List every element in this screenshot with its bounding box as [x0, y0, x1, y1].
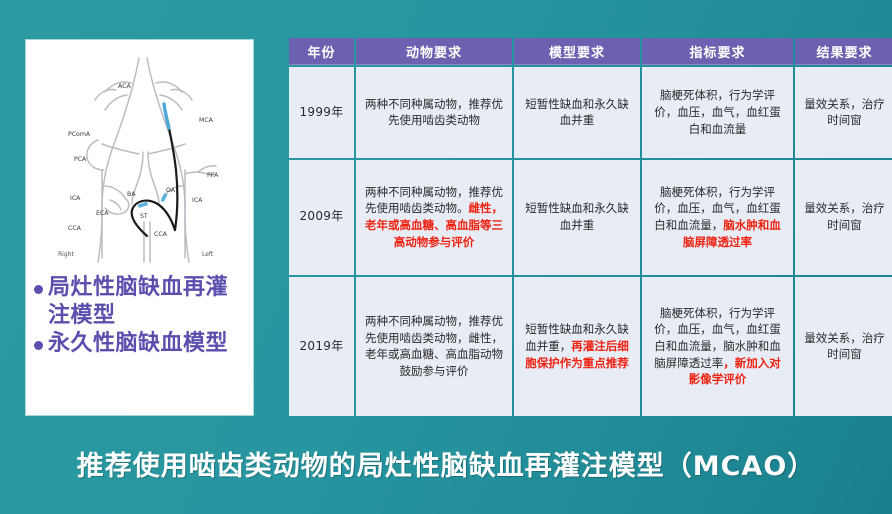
cell-model: 短暂性缺血和永久缺血并重，再灌注后细胞保护作为重点推荐 [514, 277, 640, 416]
diagram-label: CCA [154, 231, 168, 238]
list-item: 局灶性脑缺血再灌注模型 [32, 274, 249, 330]
column-header-result: 结果要求 [795, 38, 892, 65]
text-run: 脑梗死体积，行为学评价，血压，血气，血红蛋白和血流量 [654, 88, 781, 135]
diagram-label: ST [140, 213, 148, 220]
cell-result: 量效关系，治疗时间窗 [795, 67, 892, 158]
table-row: 2019年 两种不同种属动物，推荐优先使用啮齿类动物，雌性，老年或高血糖、高血脂… [289, 277, 892, 416]
bullet-dot-icon [34, 285, 43, 294]
requirements-table-wrap: 年份 动物要求 模型要求 指标要求 结果要求 1999年 两种不同种属动物，推荐… [287, 36, 884, 418]
cell-result: 量效关系，治疗时间窗 [795, 160, 892, 275]
table-row: 2009年 两种不同种属动物，推荐优先使用啮齿类动物。雌性，老年或高血糖、高血脂… [289, 160, 892, 275]
diagram-label: PPA [207, 172, 219, 179]
diagram-label: ICA [70, 195, 81, 202]
diagram-label: OA [166, 187, 176, 194]
suture-tip-highlight [164, 104, 169, 128]
slide-canvas: ACA MCA PComA PCA PPA BA OA ICA ICA ECA … [0, 0, 892, 514]
cell-animal: 两种不同种属动物，推荐优先使用啮齿类动物。雌性，老年或高血糖、高血脂等三高动物参… [356, 160, 512, 275]
diagram-label-group: ACA MCA PComA PCA PPA BA OA ICA ICA ECA … [58, 83, 219, 258]
cell-index: 脑梗死体积，行为学评价，血压，血气，血红蛋白和血流量，脑水肿和血脑屏障透过率，新… [642, 277, 793, 416]
column-header-animal: 动物要求 [356, 38, 512, 65]
cell-model: 短暂性缺血和永久缺血并重 [514, 67, 640, 158]
requirements-table: 年份 动物要求 模型要求 指标要求 结果要求 1999年 两种不同种属动物，推荐… [287, 36, 892, 418]
text-run: 量效关系，治疗时间窗 [804, 331, 885, 362]
table-body: 1999年 两种不同种属动物，推荐优先使用啮齿类动物 短暂性缺血和永久缺血并重 … [289, 67, 892, 416]
text-run: 量效关系，治疗时间窗 [804, 201, 885, 232]
cell-animal: 两种不同种属动物，推荐优先使用啮齿类动物 [356, 67, 512, 158]
table-row: 1999年 两种不同种属动物，推荐优先使用啮齿类动物 短暂性缺血和永久缺血并重 … [289, 67, 892, 158]
cerebral-artery-mcao-diagram: ACA MCA PComA PCA PPA BA OA ICA ICA ECA … [26, 40, 253, 272]
left-figure-panel: ACA MCA PComA PCA PPA BA OA ICA ICA ECA … [26, 40, 253, 415]
column-header-index: 指标要求 [642, 38, 793, 65]
bullet-label: 局灶性脑缺血再灌注模型 [48, 274, 249, 330]
text-run: 量效关系，治疗时间窗 [804, 97, 885, 128]
cell-index: 脑梗死体积，行为学评价，血压，血气，血红蛋白和血流量 [642, 67, 793, 158]
diagram-label: ICA [192, 197, 203, 204]
table-header-row: 年份 动物要求 模型要求 指标要求 结果要求 [289, 38, 892, 65]
diagram-label: CCA [68, 225, 82, 232]
diagram-label-left: Left [202, 251, 214, 258]
bullet-list: 局灶性脑缺血再灌注模型 永久性脑缺血模型 [26, 272, 253, 358]
cell-year: 2009年 [289, 160, 354, 275]
text-run: 两种不同种属动物，推荐优先使用啮齿类动物，雌性，老年或高血糖、高血脂动物鼓励参与… [365, 314, 503, 378]
column-header-year: 年份 [289, 38, 354, 65]
text-run: 短暂性缺血和永久缺血并重 [525, 97, 629, 128]
diagram-label: ECA [96, 210, 109, 217]
diagram-label: BA [127, 191, 136, 198]
slide-caption: 推荐使用啮齿类动物的局灶性脑缺血再灌注模型（MCAO） [0, 432, 892, 494]
diagram-label: PCA [74, 156, 87, 163]
list-item: 永久性脑缺血模型 [32, 330, 249, 358]
diagram-label: MCA [199, 117, 214, 124]
text-run: 两种不同种属动物，推荐优先使用啮齿类动物 [365, 97, 503, 128]
bullet-dot-icon [34, 341, 43, 350]
cell-model: 短暂性缺血和永久缺血并重 [514, 160, 640, 275]
cell-year: 2019年 [289, 277, 354, 416]
cell-result: 量效关系，治疗时间窗 [795, 277, 892, 416]
diagram-label: ACA [118, 83, 131, 90]
column-header-model: 模型要求 [514, 38, 640, 65]
diagram-label-right: Right [58, 251, 74, 258]
diagram-label: PComA [68, 131, 91, 138]
cell-year: 1999年 [289, 67, 354, 158]
cell-animal: 两种不同种属动物，推荐优先使用啮齿类动物，雌性，老年或高血糖、高血脂动物鼓励参与… [356, 277, 512, 416]
bullet-label: 永久性脑缺血模型 [48, 330, 249, 358]
cell-index: 脑梗死体积，行为学评价，血压，血气，血红蛋白和血流量，脑水肿和血脑屏障透过率 [642, 160, 793, 275]
text-run: 短暂性缺血和永久缺血并重 [525, 201, 629, 232]
